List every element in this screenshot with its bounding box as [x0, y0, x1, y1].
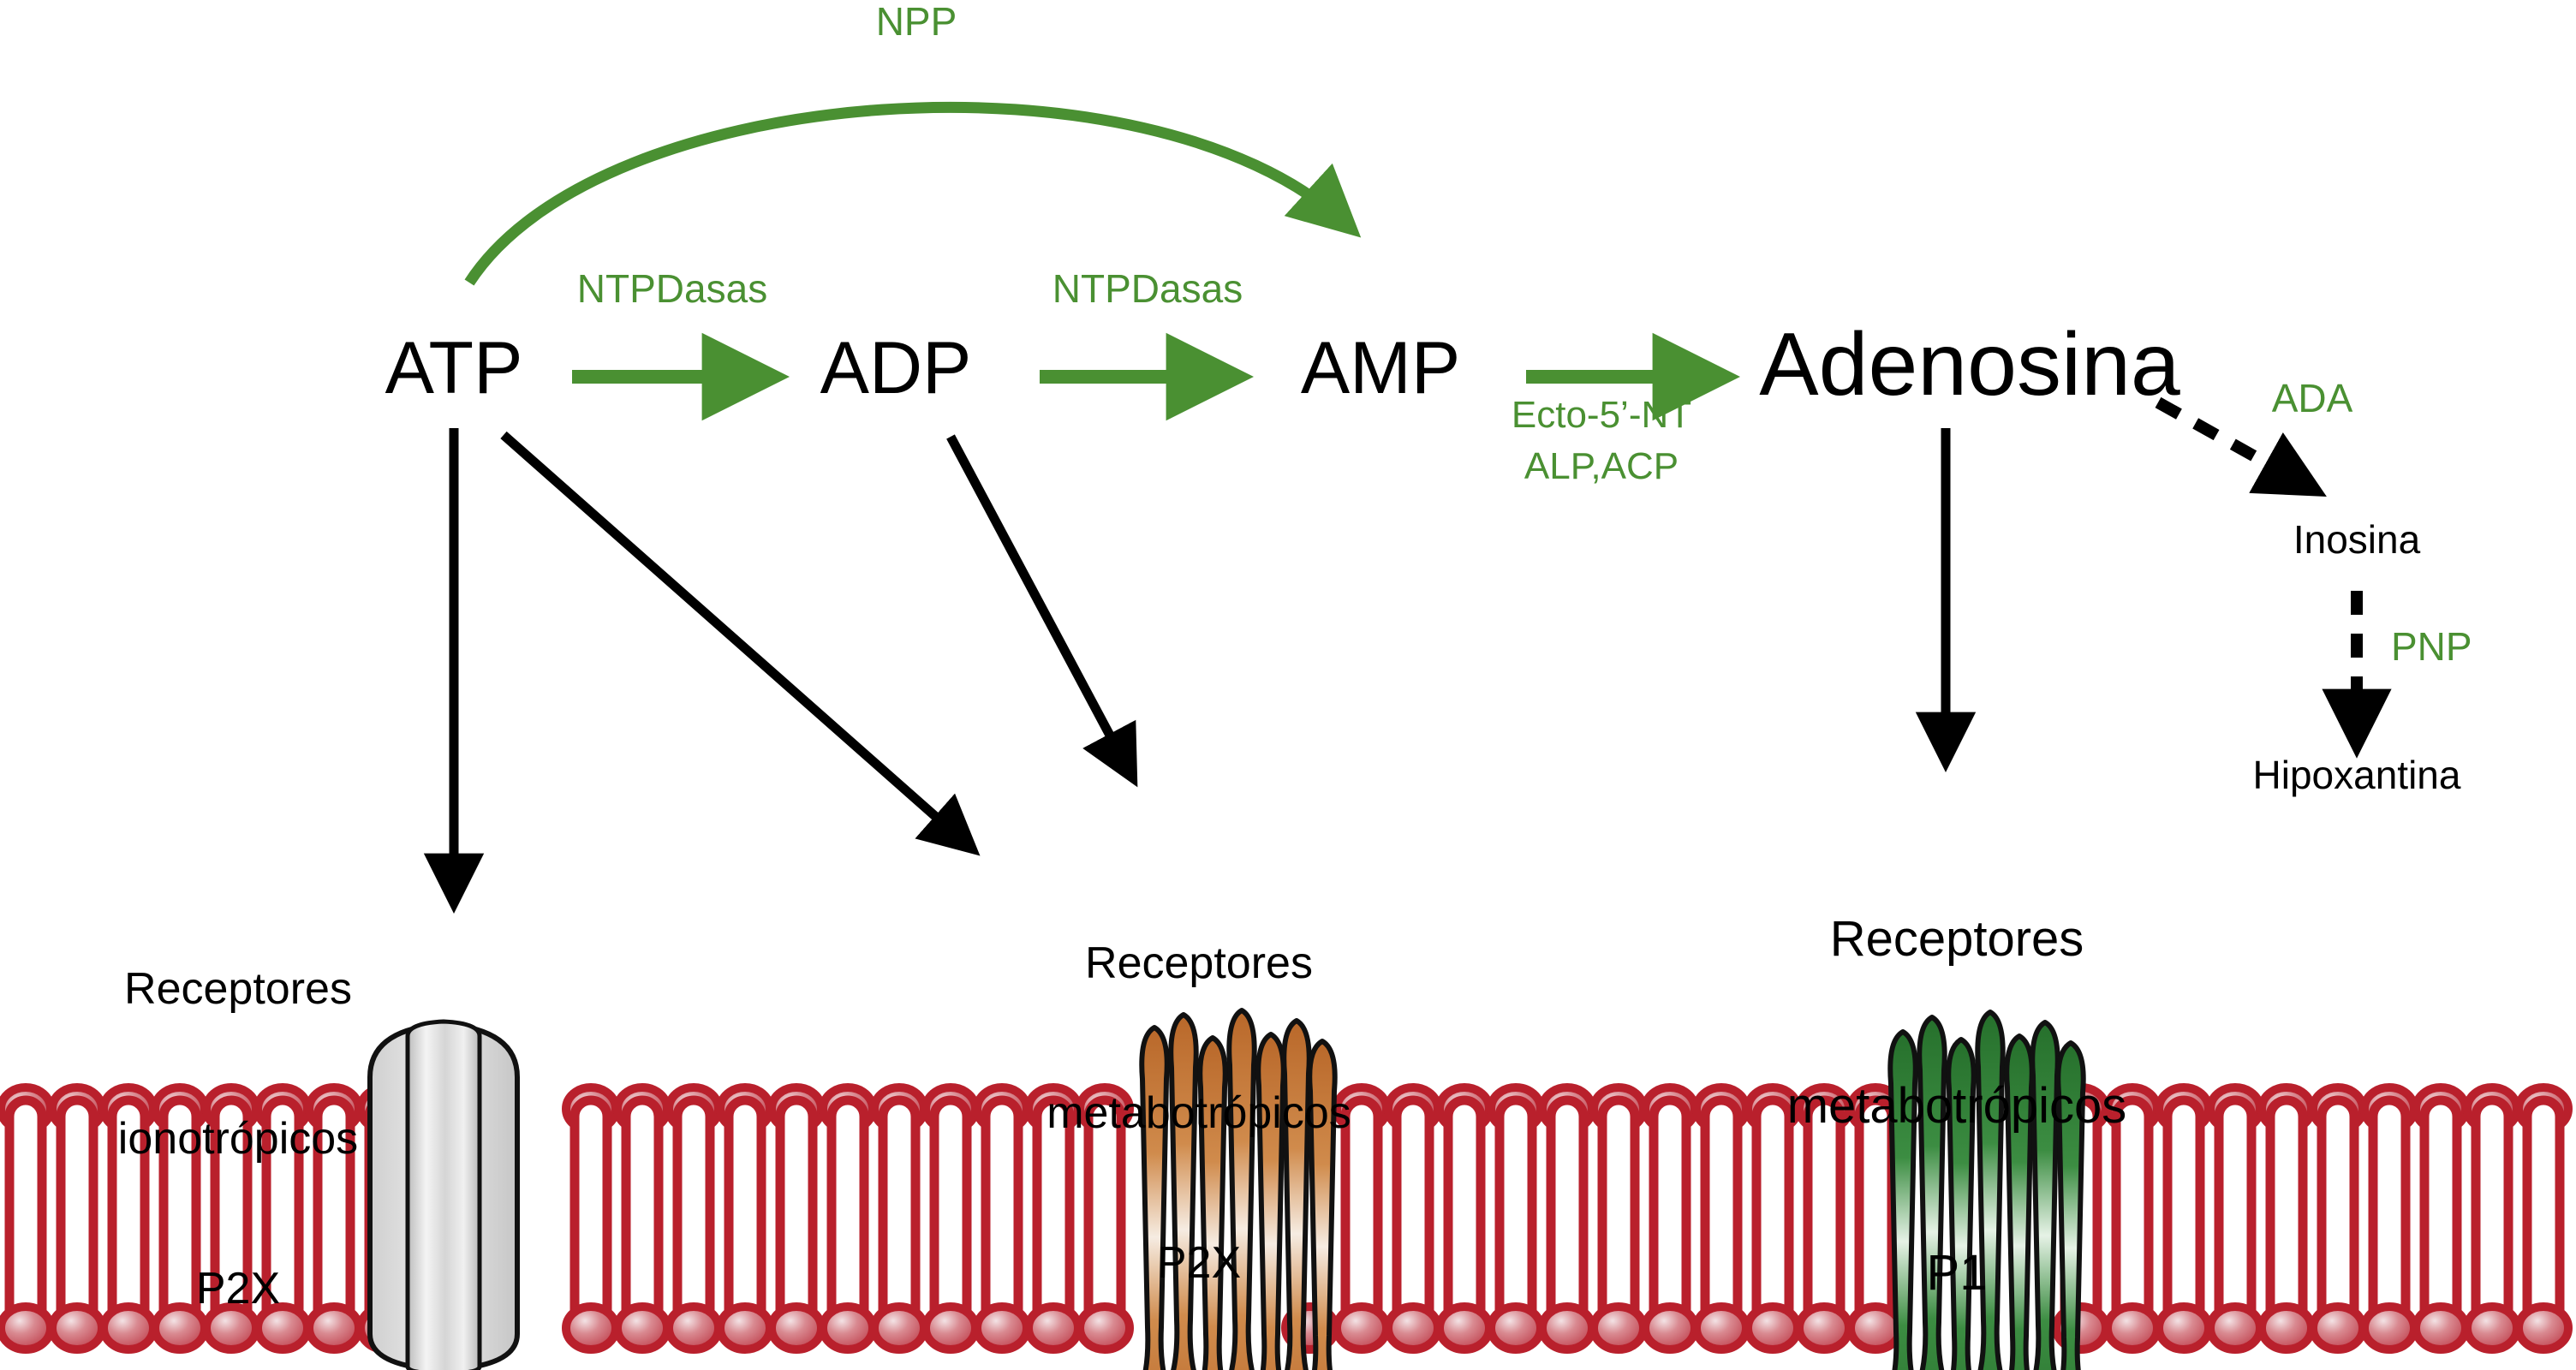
receptor-label-line-2: metabotrópicos: [1726, 1079, 2188, 1135]
enzyme-label-ntpdasas-2: NTPDasas: [1052, 267, 1243, 312]
receptor-label-line-1: Receptores: [58, 964, 418, 1014]
receptor-label-line-2: metabotrópicos: [1002, 1088, 1396, 1138]
metabolite-atp: ATP: [385, 327, 523, 409]
arrow-atp-to-p2x-metabotropic: [504, 435, 966, 843]
metabolite-amp: AMP: [1301, 327, 1460, 409]
enzyme-label-ntpdasas-1: NTPDasas: [577, 267, 767, 312]
enzyme-label-alp-acp: ALP,ACP: [1524, 445, 1679, 487]
receptor-label-line-1: Receptores: [1002, 938, 1396, 988]
enzyme-label-npp: NPP: [876, 0, 957, 45]
receptor-label-line-3: P2X: [58, 1264, 418, 1313]
receptor-label-line-3: P1: [1726, 1246, 2188, 1301]
diagram-canvas: NPP NTPDasas NTPDasas Ecto-5’-NT ALP,ACP…: [0, 0, 2576, 1370]
metabolite-adp: ADP: [820, 327, 972, 409]
receptor-label-line-2: ionotrópicos: [58, 1114, 418, 1164]
receptor-label-line-3: P2X: [1002, 1238, 1396, 1288]
enzyme-label-ecto5nt: Ecto-5’-NT: [1512, 394, 1691, 436]
enzyme-label-pnp: PNP: [2391, 625, 2472, 670]
metabolite-inosina: Inosina: [2293, 518, 2420, 563]
enzyme-label-ada: ADA: [2272, 377, 2353, 421]
receptor-label-line-1: Receptores: [1726, 912, 2188, 968]
arrow-npp-atp-to-amp: [469, 107, 1345, 283]
receptor-label-metabotropic-p2x: Receptores metabotrópicos P2X: [1002, 839, 1396, 1370]
arrow-adp-to-p2x-metabotropic: [951, 437, 1129, 771]
receptor-label-ionotropic-p2x: Receptores ionotrópicos P2X: [58, 865, 418, 1370]
receptor-label-metabotropic-p1: Receptores metabotrópicos P1: [1726, 801, 2188, 1370]
metabolite-adenosina: Adenosina: [1759, 315, 2180, 414]
metabolite-hipoxantina: Hipoxantina: [2253, 753, 2461, 798]
